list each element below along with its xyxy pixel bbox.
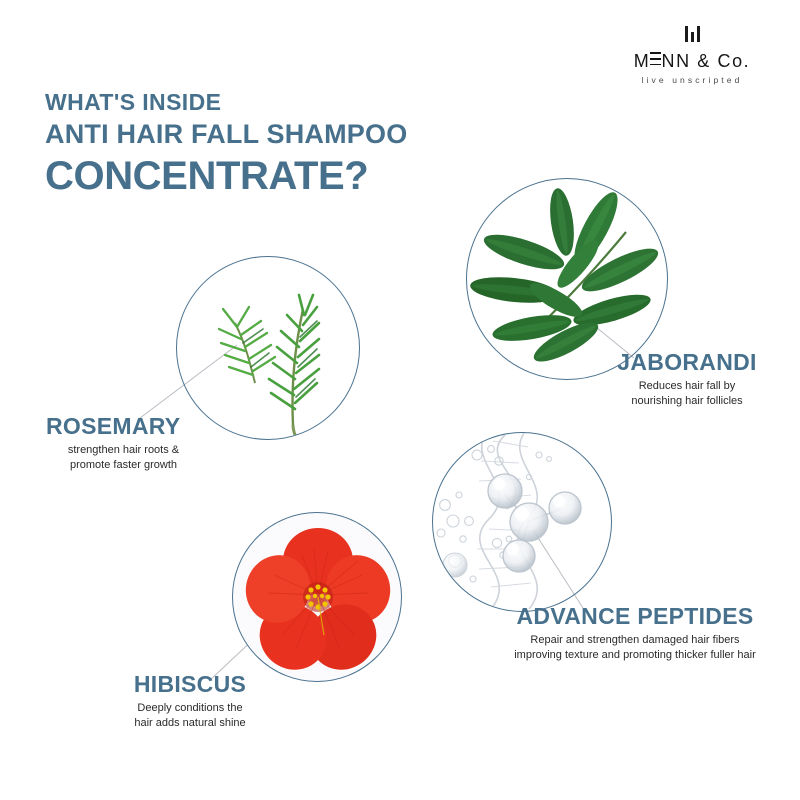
page-title: WHAT'S INSIDE ANTI HAIR FALL SHAMPOO CON… bbox=[45, 88, 407, 198]
ingredient-desc-rosemary: strengthen hair roots & promote faster g… bbox=[46, 443, 201, 473]
ingredient-circle-rosemary[interactable] bbox=[176, 256, 360, 440]
ingredient-circle-hibiscus[interactable] bbox=[232, 512, 402, 682]
ingredient-desc-advance-peptides-line-1: Repair and strengthen damaged hair fiber… bbox=[490, 633, 780, 648]
ingredient-label-advance-peptides: ADVANCE PEPTIDES Repair and strengthen d… bbox=[490, 604, 780, 664]
ingredient-label-jaborandi: JABORANDI Reduces hair fall by nourishin… bbox=[597, 350, 777, 410]
ingredient-label-rosemary: ROSEMARY strengthen hair roots & promote… bbox=[46, 414, 266, 474]
brand-tagline: live unscripted bbox=[612, 75, 772, 85]
ingredient-desc-hibiscus-line-2: hair adds natural shine bbox=[100, 716, 280, 731]
hibiscus-flower-photo bbox=[233, 513, 402, 682]
ingredient-desc-jaborandi: Reduces hair fall by nourishing hair fol… bbox=[597, 379, 777, 409]
ingredient-title-jaborandi: JABORANDI bbox=[597, 350, 777, 375]
ingredient-title-rosemary: ROSEMARY bbox=[46, 414, 266, 439]
headline-line-2: ANTI HAIR FALL SHAMPOO bbox=[45, 118, 407, 151]
ingredient-desc-advance-peptides-line-2: improving texture and promoting thicker … bbox=[490, 648, 780, 663]
ingredient-title-hibiscus: HIBISCUS bbox=[100, 672, 280, 697]
brand-wordmark-post: NN & Co. bbox=[661, 51, 750, 71]
brand-wordmark: MNN & Co. bbox=[612, 49, 772, 70]
rosemary-sprig-photo bbox=[177, 257, 360, 440]
infographic-canvas: MNN & Co. live unscripted WHAT'S INSIDE … bbox=[0, 0, 800, 800]
ingredient-desc-hibiscus: Deeply conditions the hair adds natural … bbox=[100, 701, 280, 731]
ingredient-circle-advance-peptides[interactable] bbox=[432, 432, 612, 612]
menn-logo-bars-icon bbox=[612, 26, 772, 42]
ingredient-desc-advance-peptides: Repair and strengthen damaged hair fiber… bbox=[490, 633, 780, 663]
ingredient-label-hibiscus: HIBISCUS Deeply conditions the hair adds… bbox=[100, 672, 280, 732]
headline-line-1: WHAT'S INSIDE bbox=[45, 88, 407, 116]
stylized-e-icon bbox=[650, 49, 661, 67]
ingredient-desc-rosemary-line-1: strengthen hair roots & bbox=[46, 443, 201, 458]
ingredient-desc-jaborandi-line-1: Reduces hair fall by bbox=[597, 379, 777, 394]
ingredient-desc-jaborandi-line-2: nourishing hair follicles bbox=[597, 394, 777, 409]
brand-logo: MNN & Co. live unscripted bbox=[612, 26, 772, 85]
ingredient-desc-rosemary-line-2: promote faster growth bbox=[46, 458, 201, 473]
brand-wordmark-pre: M bbox=[634, 51, 651, 71]
ingredient-title-advance-peptides: ADVANCE PEPTIDES bbox=[490, 604, 780, 629]
ingredient-desc-hibiscus-line-1: Deeply conditions the bbox=[100, 701, 280, 716]
peptide-molecule-helix-graphic bbox=[433, 433, 612, 612]
headline-line-3: CONCENTRATE? bbox=[45, 154, 407, 198]
